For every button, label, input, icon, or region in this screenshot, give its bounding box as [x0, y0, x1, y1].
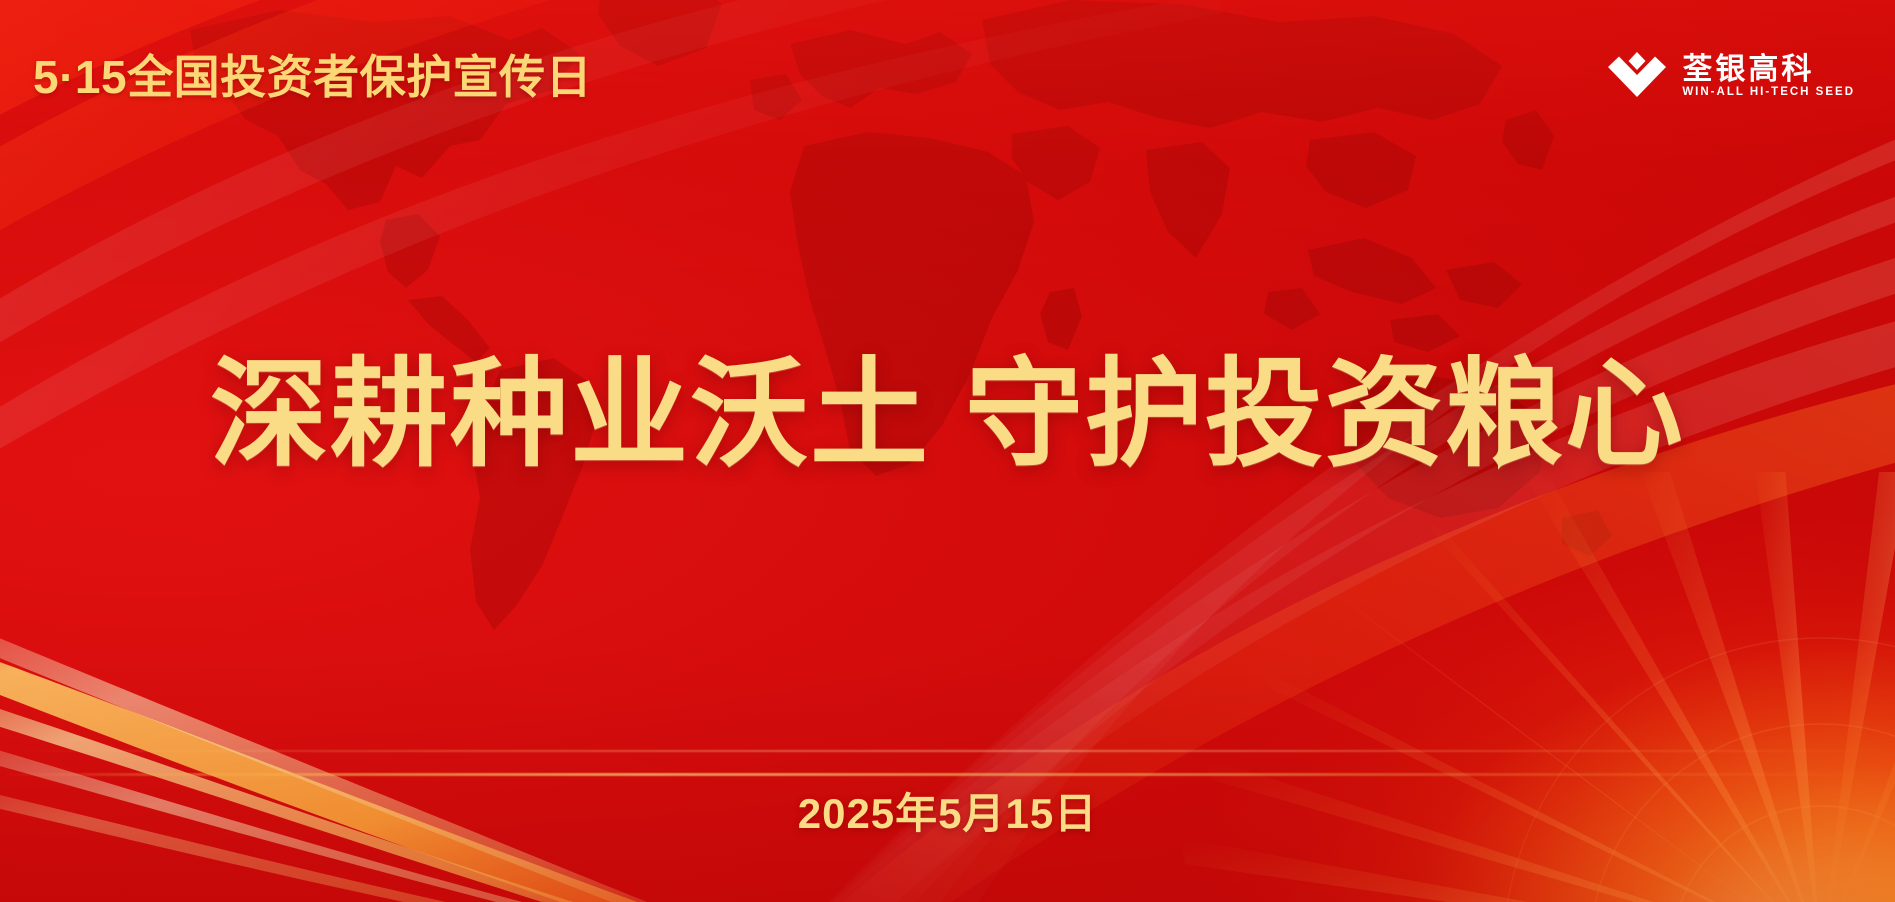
- brand-name-cn: 荃银高科: [1682, 54, 1855, 86]
- brand-text: 荃银高科 WIN-ALL HI-TECH SEED: [1682, 54, 1855, 99]
- poster-canvas: 5·15全国投资者保护宣传日 荃银高科 WIN-ALL HI-TECH SEED…: [0, 0, 1895, 902]
- campaign-title: 5·15全国投资者保护宣传日: [33, 54, 592, 100]
- brand-name-en: WIN-ALL HI-TECH SEED: [1682, 87, 1855, 99]
- brand-lockup: 荃银高科 WIN-ALL HI-TECH SEED: [1606, 48, 1855, 104]
- event-date: 2025年5月15日: [0, 793, 1895, 835]
- poster-content: 5·15全国投资者保护宣传日 荃银高科 WIN-ALL HI-TECH SEED…: [0, 0, 1895, 902]
- chevron-diamond-logo-icon: [1606, 48, 1668, 104]
- main-headline: 深耕种业沃土 守护投资粮心: [0, 348, 1895, 484]
